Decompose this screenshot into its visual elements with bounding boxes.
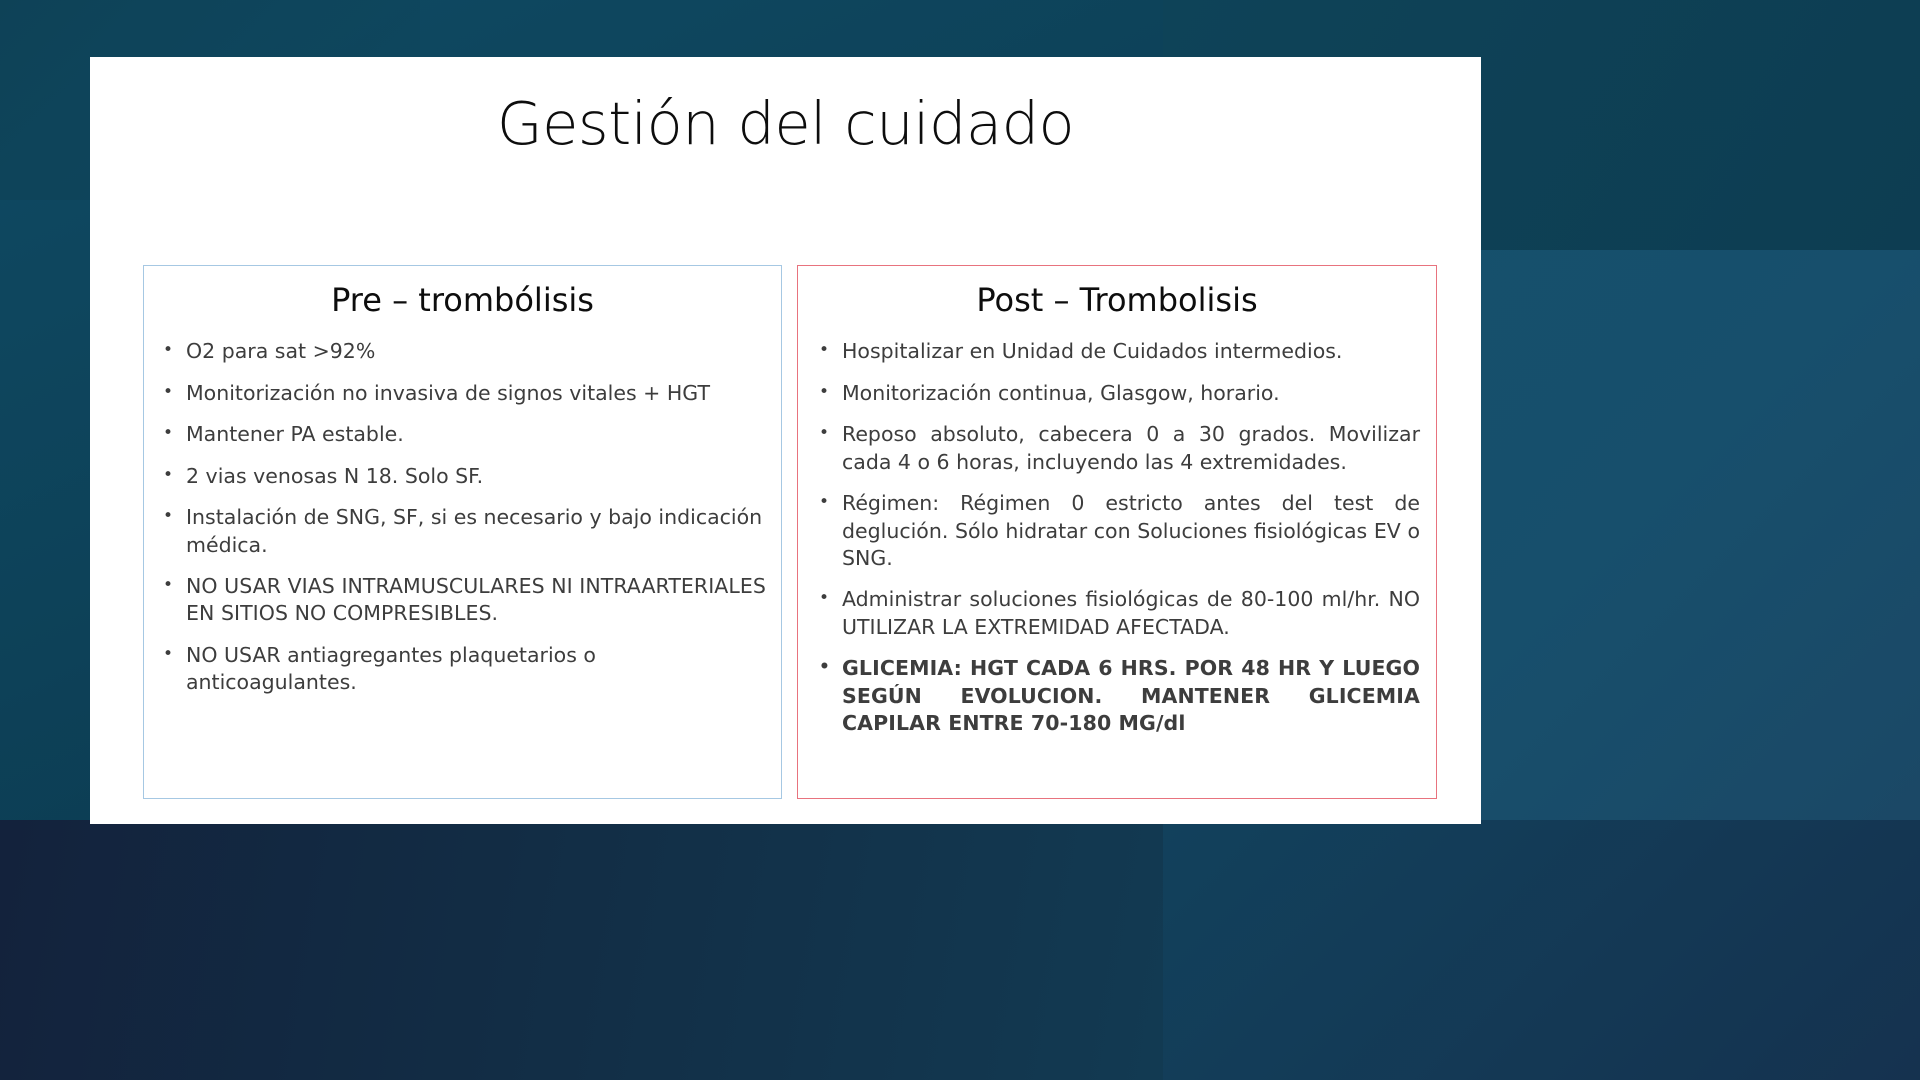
backdrop-bottom-right-panel bbox=[1163, 820, 1920, 1080]
list-item: Régimen: Régimen 0 estricto antes del te… bbox=[812, 490, 1420, 572]
backdrop-bottom-left-panel bbox=[0, 820, 1163, 1080]
list-item: Monitorización no invasiva de signos vit… bbox=[156, 380, 767, 407]
list-item: Hospitalizar en Unidad de Cuidados inter… bbox=[812, 338, 1420, 365]
list-item: GLICEMIA: HGT CADA 6 HRS. POR 48 HR Y LU… bbox=[812, 655, 1420, 737]
list-item: Instalación de SNG, SF, si es necesario … bbox=[156, 504, 767, 559]
pre-thrombolysis-panel: Pre – trombólisis O2 para sat >92% Monit… bbox=[143, 265, 782, 799]
list-item: O2 para sat >92% bbox=[156, 338, 767, 365]
list-item: NO USAR antiagregantes plaquetarios o an… bbox=[156, 642, 767, 697]
list-item: Monitorización continua, Glasgow, horari… bbox=[812, 380, 1420, 407]
list-item: Administrar soluciones fisiológicas de 8… bbox=[812, 586, 1420, 641]
list-item: NO USAR VIAS INTRAMUSCULARES NI INTRAART… bbox=[156, 573, 767, 628]
post-thrombolysis-panel: Post – Trombolisis Hospitalizar en Unida… bbox=[797, 265, 1437, 799]
list-item: Mantener PA estable. bbox=[156, 421, 767, 448]
list-item: Reposo absoluto, cabecera 0 a 30 grados.… bbox=[812, 421, 1420, 476]
pre-thrombolysis-heading: Pre – trombólisis bbox=[144, 283, 781, 318]
post-thrombolysis-heading: Post – Trombolisis bbox=[798, 283, 1436, 318]
pre-thrombolysis-bullet-list: O2 para sat >92% Monitorización no invas… bbox=[156, 338, 767, 697]
post-thrombolysis-bullet-list: Hospitalizar en Unidad de Cuidados inter… bbox=[812, 338, 1420, 738]
slide-canvas: Gestión del cuidado Pre – trombólisis O2… bbox=[90, 57, 1481, 824]
list-item: 2 vias venosas N 18. Solo SF. bbox=[156, 463, 767, 490]
page-title: Gestión del cuidado bbox=[90, 93, 1481, 155]
